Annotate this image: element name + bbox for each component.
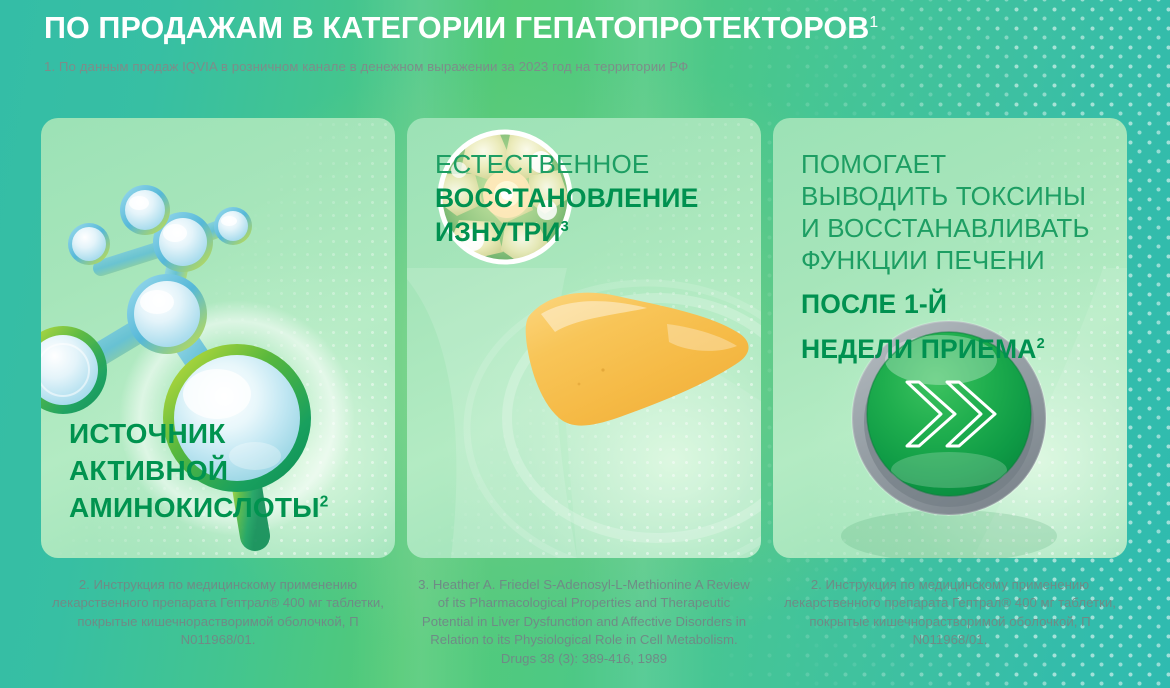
- card1-heading: ИСТОЧНИК АКТИВНОЙ АМИНОКИСЛОТЫ2: [69, 415, 375, 526]
- card3-heading-bold-line-1: ПОСЛЕ 1-Й: [801, 287, 1107, 321]
- card2-heading: ЕСТЕСТВЕННОЕ ВОССТАНОВЛЕНИЕ ИЗНУТРИ3: [435, 148, 741, 249]
- card3-heading-light-line-1: ПОМОГАЕТ: [801, 148, 1107, 180]
- card1-heading-line-1: ИСТОЧНИК: [69, 415, 375, 452]
- card2-heading-line-2: ИЗНУТРИ3: [435, 215, 741, 249]
- card3-heading-light-line-3: И ВОССТАНАВЛИВАТЬ: [801, 212, 1107, 244]
- card2-heading-line-1: ВОССТАНОВЛЕНИЕ: [435, 181, 741, 215]
- card2-heading-light: ЕСТЕСТВЕННОЕ: [435, 148, 741, 181]
- page-subtitle: 1. По данным продаж IQVIA в розничном ка…: [44, 58, 1134, 76]
- page-title-footnote-marker: 1: [869, 14, 878, 31]
- card3-heading-light-line-4: ФУНКЦИИ ПЕЧЕНИ: [801, 244, 1107, 276]
- card3-heading: ПОМОГАЕТ ВЫВОДИТЬ ТОКСИНЫ И ВОССТАНАВЛИВ…: [801, 148, 1107, 366]
- benefit-card-active-amino-acid[interactable]: ИСТОЧНИК АКТИВНОЙ АМИНОКИСЛОТЫ2: [41, 118, 395, 558]
- card1-footnote-marker: 2: [320, 494, 329, 511]
- benefit-cards-row: ИСТОЧНИК АКТИВНОЙ АМИНОКИСЛОТЫ2: [41, 118, 1129, 558]
- footnotes-row: 2. Инструкция по медицинскому применению…: [41, 576, 1129, 668]
- benefit-card-natural-recovery[interactable]: ЕСТЕСТВЕННОЕ ВОССТАНОВЛЕНИЕ ИЗНУТРИ3: [407, 118, 761, 558]
- card3-footnote-marker: 2: [1037, 336, 1045, 352]
- card1-heading-line-2: АКТИВНОЙ: [69, 452, 375, 489]
- page-title: ПО ПРОДАЖАМ В КАТЕГОРИИ ГЕПАТОПРОТЕКТОРО…: [44, 6, 1134, 50]
- card3-heading-bold-line-2: НЕДЕЛИ ПРИЕМА2: [801, 332, 1107, 366]
- page-header: ПО ПРОДАЖАМ В КАТЕГОРИИ ГЕПАТОПРОТЕКТОРО…: [44, 6, 1134, 76]
- footnote-card-2: 3. Heather A. Friedel S-Adenosyl-L-Methi…: [407, 576, 761, 668]
- card3-heading-light-line-2: ВЫВОДИТЬ ТОКСИНЫ: [801, 180, 1107, 212]
- card3-heading-bold-line-2-text: НЕДЕЛИ ПРИЕМА: [801, 334, 1037, 364]
- benefit-card-toxin-removal[interactable]: ПОМОГАЕТ ВЫВОДИТЬ ТОКСИНЫ И ВОССТАНАВЛИВ…: [773, 118, 1127, 558]
- card2-heading-line-2-text: ИЗНУТРИ: [435, 217, 561, 247]
- card1-heading-line-3: АМИНОКИСЛОТЫ2: [69, 489, 375, 526]
- footnote-card-3: 2. Инструкция по медицинскому применению…: [773, 576, 1127, 668]
- page-title-text: ПО ПРОДАЖАМ В КАТЕГОРИИ ГЕПАТОПРОТЕКТОРО…: [44, 11, 869, 45]
- card2-footnote-marker: 3: [561, 219, 569, 235]
- card1-heading-line-3-text: АМИНОКИСЛОТЫ: [69, 492, 320, 523]
- footnote-card-1: 2. Инструкция по медицинскому применению…: [41, 576, 395, 668]
